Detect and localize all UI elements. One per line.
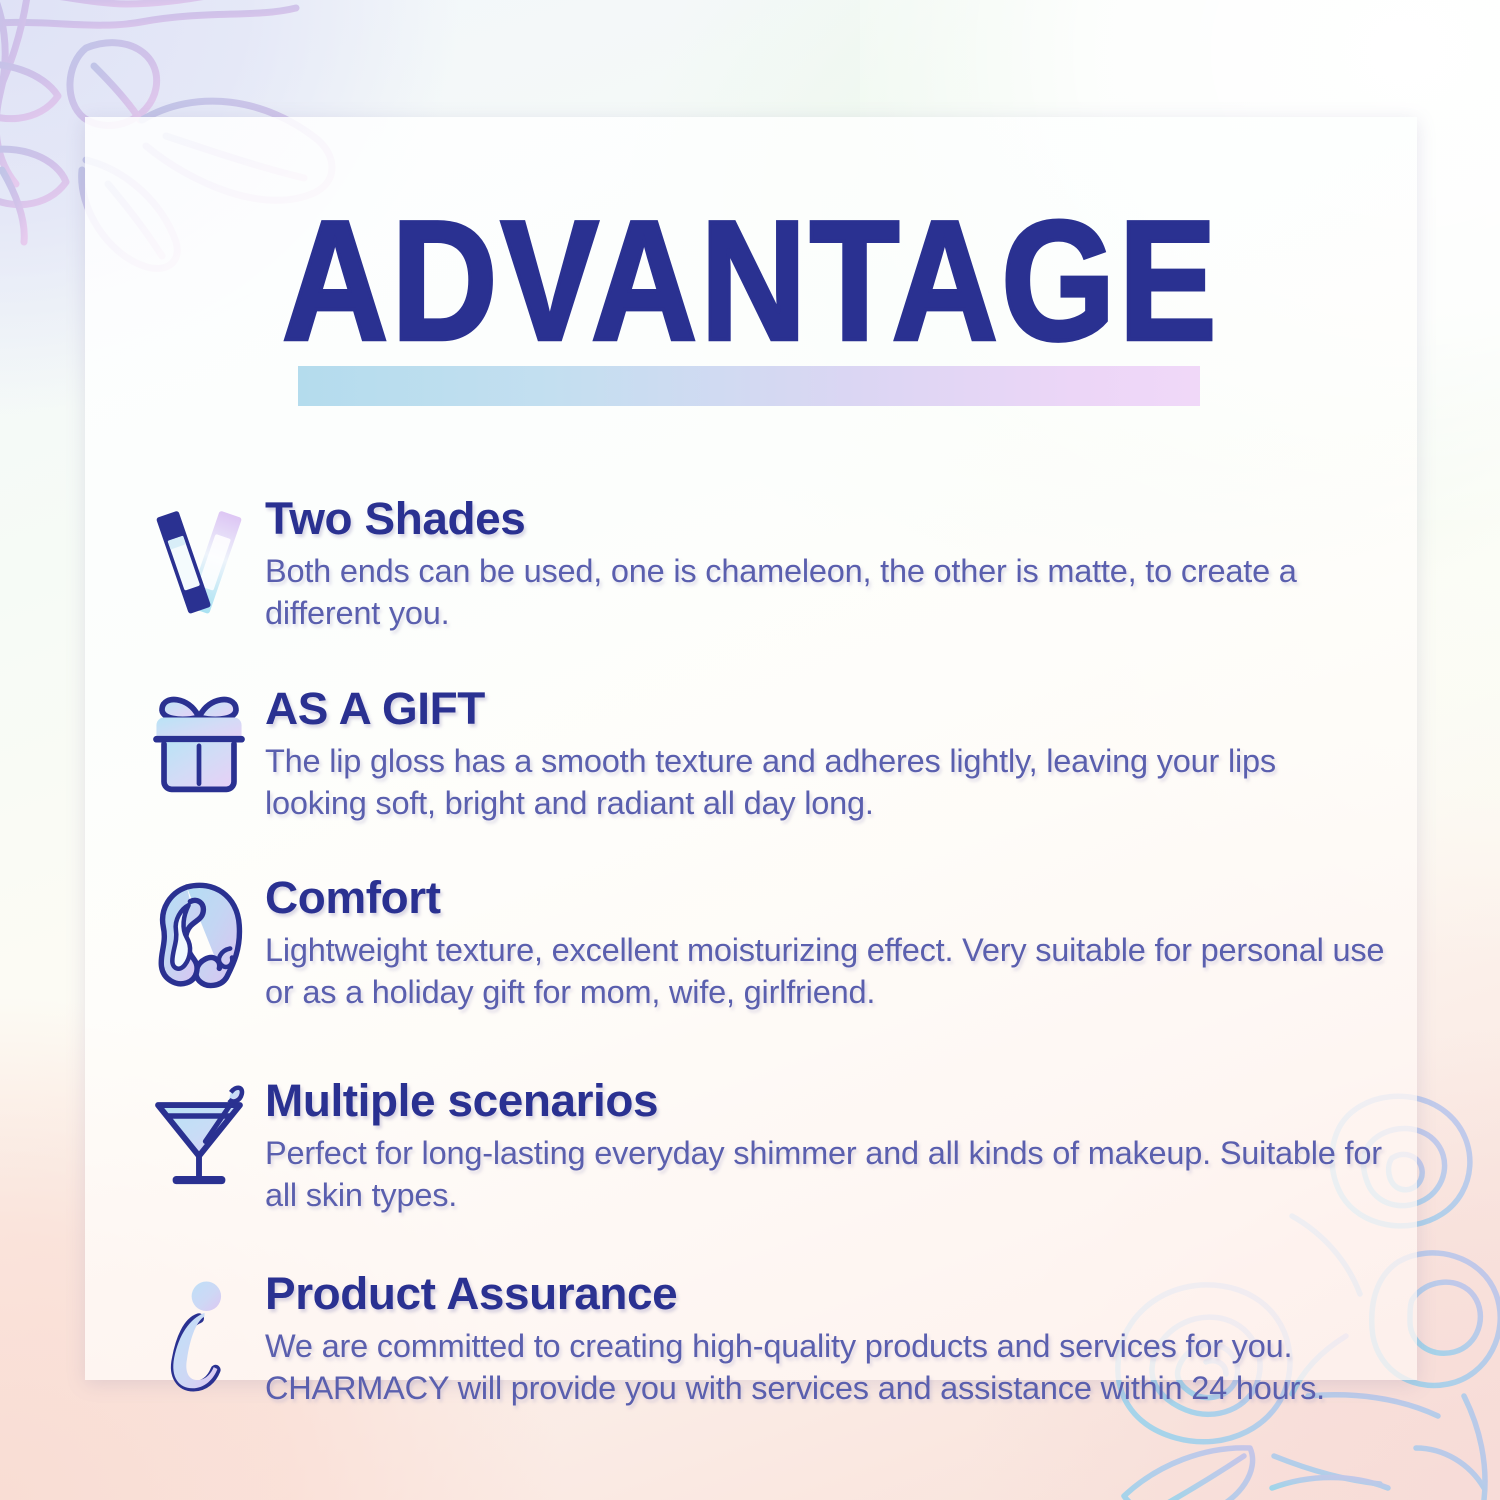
- feature-title: AS A GIFT: [265, 685, 1426, 733]
- feature-title: Multiple scenarios: [265, 1077, 1426, 1125]
- woman-hair-profile-icon: [133, 874, 265, 991]
- feature-description: Lightweight texture, excellent moisturiz…: [265, 929, 1385, 1014]
- feature-body: AS A GIFT The lip gloss has a smooth tex…: [265, 685, 1403, 824]
- feature-item-multiple-scenarios: Multiple scenarios Perfect for long-last…: [133, 1077, 1403, 1216]
- feature-description: We are committed to creating high-qualit…: [265, 1325, 1385, 1410]
- infographic-page: ADVANTAGE: [0, 0, 1500, 1500]
- feature-item-product-assurance: Product Assurance We are committed to cr…: [133, 1270, 1403, 1409]
- feature-body: Multiple scenarios Perfect for long-last…: [265, 1077, 1403, 1216]
- content-card: ADVANTAGE: [85, 117, 1417, 1380]
- feature-body: Product Assurance We are committed to cr…: [265, 1270, 1403, 1409]
- feature-body: Comfort Lightweight texture, excellent m…: [265, 874, 1403, 1013]
- two-lipstick-tubes-icon: [133, 495, 265, 615]
- info-letter-i-icon: [133, 1270, 265, 1394]
- feature-body: Two Shades Both ends can be used, one is…: [265, 495, 1403, 634]
- cocktail-glass-icon: [133, 1077, 265, 1191]
- feature-description: The lip gloss has a smooth texture and a…: [265, 740, 1385, 825]
- feature-description: Both ends can be used, one is chameleon,…: [265, 550, 1385, 635]
- feature-item-as-a-gift: AS A GIFT The lip gloss has a smooth tex…: [133, 685, 1403, 824]
- feature-title: Two Shades: [265, 495, 1426, 543]
- feature-item-two-shades: Two Shades Both ends can be used, one is…: [133, 495, 1403, 634]
- gift-box-icon: [133, 685, 265, 798]
- feature-description: Perfect for long-lasting everyday shimme…: [265, 1132, 1385, 1217]
- feature-title: Comfort: [265, 874, 1426, 922]
- page-title-wrap: ADVANTAGE: [85, 195, 1417, 335]
- feature-title: Product Assurance: [265, 1270, 1426, 1318]
- page-title: ADVANTAGE: [5, 195, 1497, 365]
- feature-item-comfort: Comfort Lightweight texture, excellent m…: [133, 874, 1403, 1013]
